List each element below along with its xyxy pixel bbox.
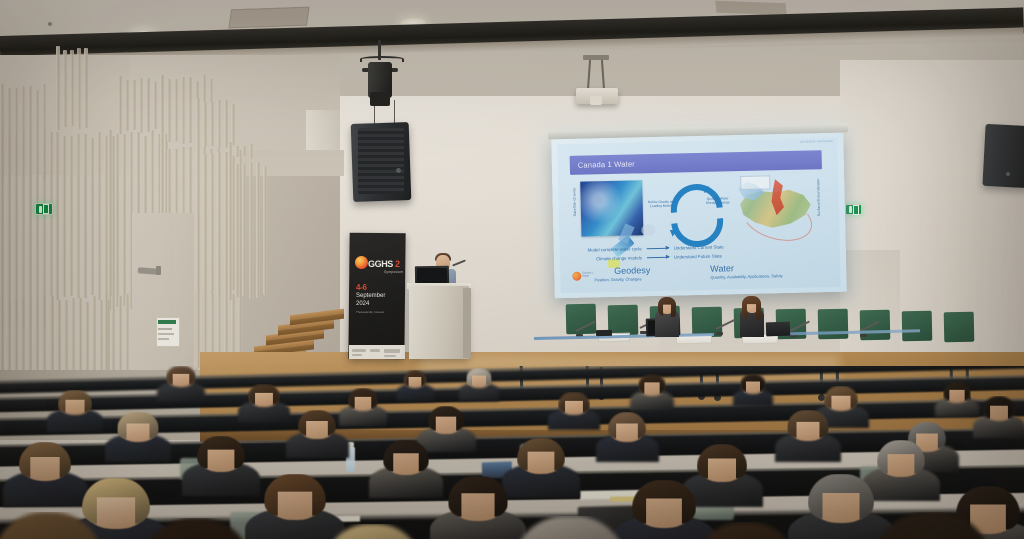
lecture-hall-photo: GGHS2024 IAG/IASPEI Canada 1 Water Satel… — [0, 0, 1024, 539]
wall-slat — [174, 79, 178, 141]
projector-mount-plate — [583, 55, 609, 60]
slide-surface: GGHS2024 IAG/IASPEI Canada 1 Water Satel… — [557, 138, 840, 293]
podium-laptop-screen — [417, 268, 447, 284]
panel-chair — [902, 311, 933, 342]
sponsor-logo — [370, 349, 380, 352]
cycle-diagram: Refine Gravity and Loading Models Quanti… — [658, 180, 723, 237]
wall-slat — [90, 137, 94, 294]
conference-logo-icon — [355, 256, 368, 269]
wall-slat — [188, 77, 192, 143]
stage-light-lens — [370, 92, 390, 106]
wall-slat — [146, 78, 150, 132]
wall-slat — [217, 99, 221, 148]
wall-slat — [56, 46, 60, 130]
projection-screen: GGHS2024 IAG/IASPEI Canada 1 Water Satel… — [551, 133, 847, 299]
speaker-driver-icon — [396, 168, 401, 173]
wall-slat — [139, 77, 143, 132]
slide-pillar-subtitle: Quantity, Availability, Applications, Sa… — [710, 273, 782, 280]
banner-subtitle: Symposium — [384, 270, 403, 274]
wall-slat — [228, 142, 232, 160]
banner-conference-name: GGHS — [368, 259, 393, 269]
wall-slat — [203, 153, 207, 291]
banner-city: Thessaloniki, Greece — [356, 310, 384, 314]
flow-target-label: Understand Future State — [674, 253, 758, 260]
wall-slat — [242, 146, 246, 156]
banner-month: September — [356, 293, 385, 299]
wall-slat — [242, 164, 246, 296]
banner-date: 4-6 — [356, 283, 367, 292]
panel-chair — [818, 309, 849, 340]
wall-slat — [132, 80, 136, 130]
canada-hydrology-map — [738, 174, 811, 236]
flow-source-label: Climate change models — [584, 255, 642, 261]
slide-header-text: GGHS2024 IAG/IASPEI — [800, 140, 833, 144]
door-handle-post — [156, 266, 161, 275]
notice-line — [158, 328, 172, 330]
wall-slat — [77, 47, 81, 128]
satellite-gravity-image — [580, 180, 643, 236]
flow-source-label: Model complete water cycle — [584, 246, 642, 252]
wall-slat — [115, 133, 119, 306]
notice-green-bar — [158, 320, 176, 324]
wall-slat — [181, 76, 185, 143]
speaker-grille — [358, 128, 404, 194]
cycle-label-right: Quantify Water Storage Change — [701, 196, 735, 206]
wall-slat — [125, 79, 129, 130]
arrow-right-icon — [647, 257, 669, 258]
slide-flow-row: Climate change models Understand Future … — [584, 253, 758, 262]
wall-slat — [35, 133, 39, 324]
slide-title-bar: Canada 1 Water — [570, 150, 822, 175]
wall-slat — [249, 143, 253, 158]
wall-slat — [14, 132, 18, 326]
wall-slat — [263, 165, 267, 294]
panel-chair — [566, 304, 597, 335]
ceiling-vent — [228, 7, 309, 29]
wall-slat — [196, 98, 200, 150]
ceiling-vent-2 — [715, 1, 787, 15]
slide-left-axis-label: Satellite Gravity — [572, 188, 577, 217]
podium — [409, 286, 469, 359]
notice-line — [158, 338, 169, 340]
map-legend-box — [740, 175, 770, 190]
slide-logo-mark-icon — [572, 272, 581, 281]
wall-slat — [256, 162, 260, 298]
sponsor-logo — [352, 349, 366, 352]
gravity-feature — [641, 224, 655, 236]
ceiling-fixture-point — [48, 22, 52, 26]
exit-sign-icon — [845, 204, 862, 215]
wall-slat — [84, 48, 88, 128]
wall-slat — [55, 132, 59, 300]
wall-slat — [7, 131, 11, 326]
wall-slat — [70, 50, 74, 126]
podium-side — [463, 288, 471, 358]
slide-pillar-subtitle: Position, Gravity, Changes — [594, 276, 641, 282]
sponsor-logo — [384, 349, 400, 353]
slide-pillar-heading: Geodesy — [614, 265, 650, 276]
sponsor-logo — [384, 355, 396, 357]
wall-slat — [160, 75, 164, 145]
banner-conference-name-accent: 2 — [395, 259, 400, 269]
microphone-base — [716, 332, 723, 335]
side-door[interactable] — [132, 213, 194, 373]
slide-pillar-heading: Water — [710, 263, 734, 274]
wall-slat — [76, 133, 80, 298]
slide-flow-row: Model complete water cycle Understand Cu… — [584, 244, 758, 253]
panel-chair — [608, 305, 639, 336]
wall-slat — [210, 102, 214, 146]
wall-slat — [122, 134, 126, 306]
wall-slat — [97, 132, 101, 300]
audience-seating — [0, 366, 1024, 539]
wall-slat — [118, 76, 122, 134]
microphone-base — [860, 334, 867, 337]
wall-slat — [62, 135, 66, 296]
wall-slat — [224, 100, 228, 148]
table-device — [596, 330, 612, 336]
slide-right-axis-label: Surface/Groundwater — [816, 178, 821, 216]
speaker-driver-icon — [1006, 172, 1010, 176]
wall-slat — [228, 160, 232, 300]
wall-slat — [217, 151, 221, 293]
sponsor-logo — [352, 354, 362, 356]
wall-slat — [203, 101, 207, 146]
wall-slat — [235, 145, 239, 156]
panel-chair — [944, 312, 975, 343]
wall-slat — [167, 78, 171, 141]
wall-slat — [249, 161, 253, 298]
wall-slat — [231, 103, 235, 144]
wall-slat — [153, 81, 157, 128]
projector-lens-icon — [590, 96, 602, 105]
flow-target-label: Understand Current State — [674, 244, 758, 251]
wall-slat — [235, 163, 239, 296]
wall-slat — [210, 154, 214, 291]
wall-speaker-right — [982, 124, 1024, 188]
slide-title: Canada 1 Water — [578, 159, 635, 169]
wall-slat — [196, 150, 200, 295]
notice-line — [158, 333, 174, 335]
wall-slat — [63, 49, 67, 126]
banner-year: 2024 — [356, 301, 369, 307]
wall-slat — [69, 136, 73, 296]
wall-slat — [108, 130, 112, 310]
exit-sign-icon — [35, 203, 53, 215]
panelist-laptop — [766, 322, 790, 337]
cycle-label-left: Refine Gravity and Loading Models — [645, 199, 679, 209]
wall-slat — [83, 134, 87, 298]
arrow-right-icon — [647, 248, 669, 249]
